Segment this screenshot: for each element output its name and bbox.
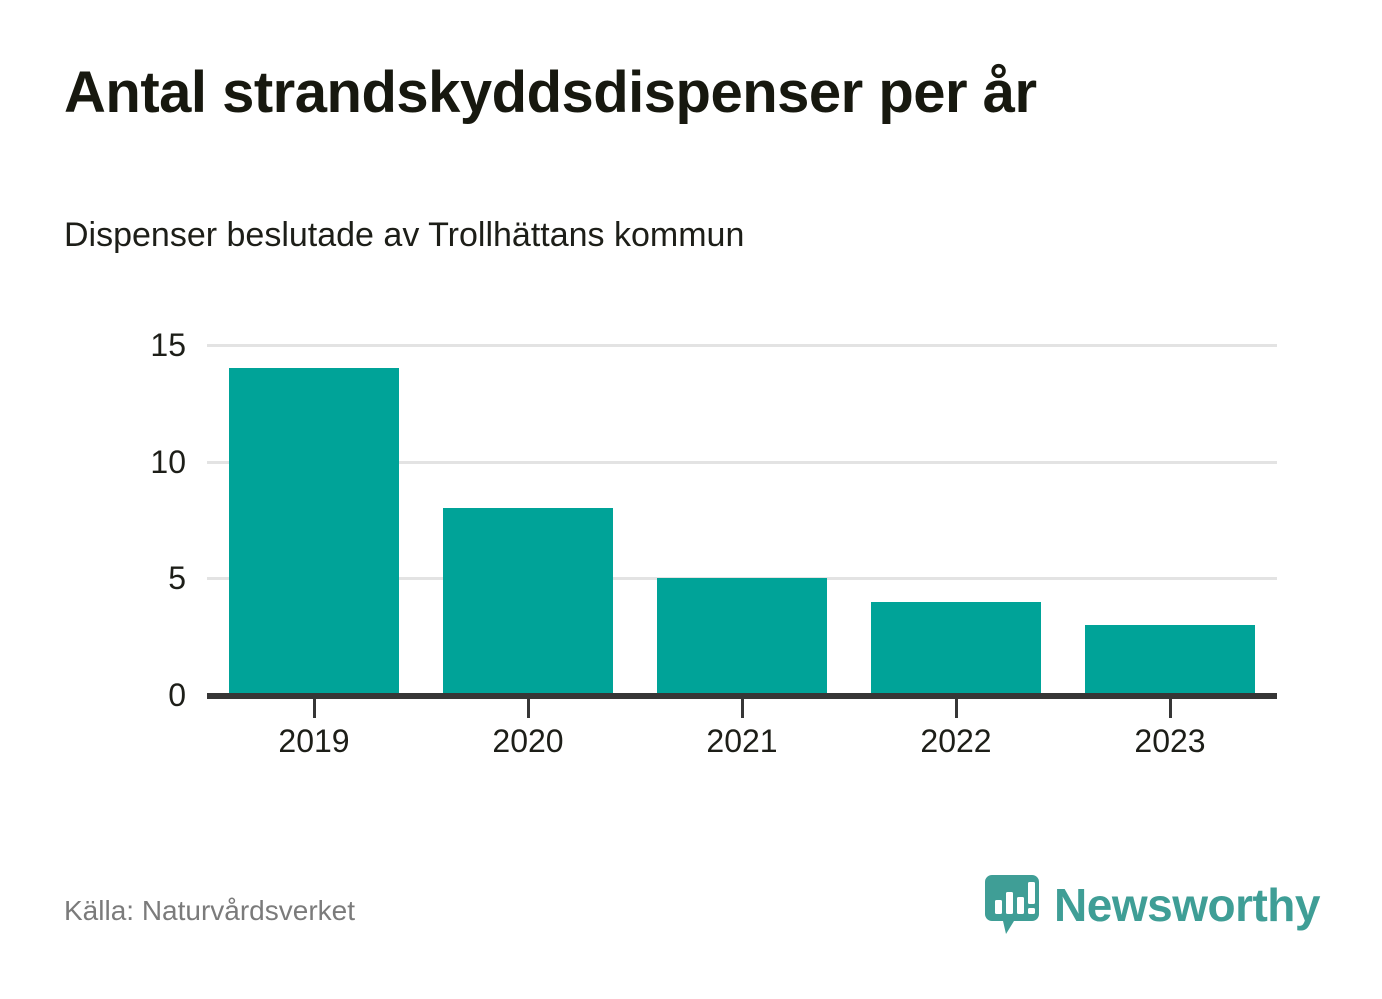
x-axis-tick-label: 2023 [1050, 724, 1290, 759]
plot-area [207, 345, 1277, 695]
x-axis-tick [527, 699, 530, 718]
x-axis-tick [741, 699, 744, 718]
bar-chart: 05101520192020202120222023 [0, 0, 1382, 999]
x-axis-tick [1169, 699, 1172, 718]
newsworthy-logo: Newsworthy [984, 873, 1320, 937]
x-axis-tick-label: 2019 [194, 724, 434, 759]
bar-chart-speech-bubble-icon [984, 873, 1040, 937]
x-axis-tick [313, 699, 316, 718]
bar-2020[interactable] [443, 508, 612, 695]
bar-2021[interactable] [657, 578, 826, 695]
y-axis-tick-label: 5 [46, 562, 186, 594]
y-axis-tick-label: 0 [46, 679, 186, 711]
x-axis-tick-label: 2021 [622, 724, 862, 759]
y-axis-tick-label: 10 [46, 446, 186, 478]
x-axis-tick-label: 2020 [408, 724, 648, 759]
x-axis-tick-label: 2022 [836, 724, 1076, 759]
x-axis-tick [955, 699, 958, 718]
source-note: Källa: Naturvårdsverket [64, 895, 355, 927]
chart-page: Antal strandskyddsdispenser per år Dispe… [0, 0, 1382, 999]
bar-2022[interactable] [871, 602, 1040, 695]
bar-2019[interactable] [229, 368, 398, 695]
gridline [207, 344, 1277, 347]
y-axis-tick-label: 15 [46, 329, 186, 361]
bar-2023[interactable] [1085, 625, 1254, 695]
logo-wordmark: Newsworthy [1054, 882, 1320, 928]
